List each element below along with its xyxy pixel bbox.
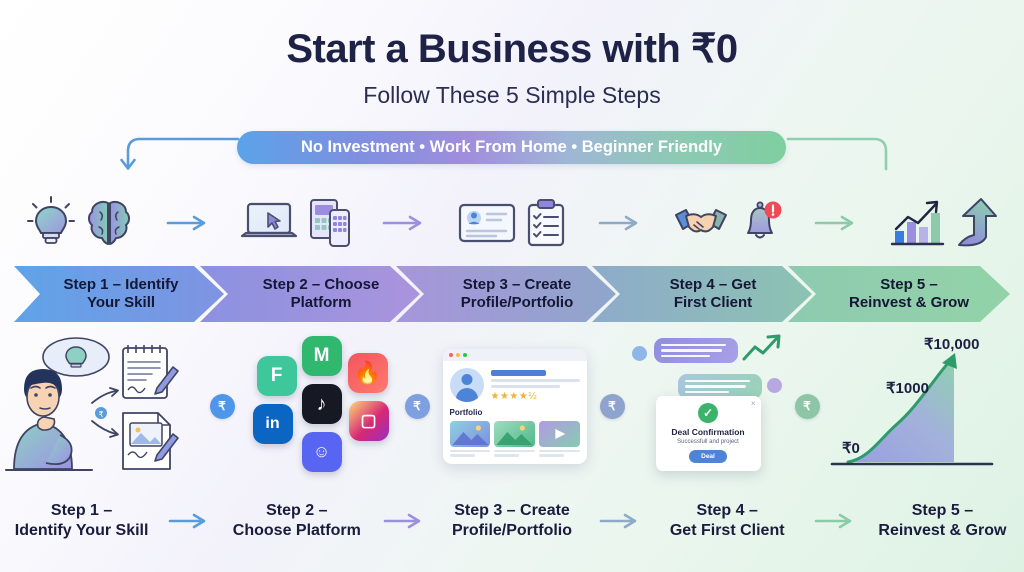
thumb-item[interactable] [539,421,580,457]
chev-1-line2: Your Skill [87,294,155,311]
feature-badge: No Investment • Work From Home • Beginne… [237,131,786,164]
chev-3-line1: Step 3 – Create [463,276,571,293]
maximize-dot [463,353,467,357]
icon-group-skill [0,195,160,251]
chart-label-mid: ₹1000 [886,380,929,397]
bl-4-line2: Get First Client [670,522,785,539]
trend-up-arrow-icon [742,334,784,364]
page-subtitle: Follow These 5 Simple Steps [0,82,1024,109]
rupee-separator-4: ₹ [790,394,824,419]
minimize-dot [456,353,460,357]
name-bar [491,370,546,376]
chev-2-line1: Step 2 – Choose [263,276,380,293]
chat-avatar-right [767,378,782,393]
thumb-caption [539,450,580,453]
illustration-panels: ₹ ₹ F M 🔥 in ♪ [0,330,1024,482]
icon-arrow-3 [592,213,648,233]
chevron-label-4: Step 4 – GetFirst Client [620,266,806,322]
arrow-right-icon [814,512,856,530]
thumb-item[interactable] [494,421,535,457]
panel-reinvest-grow: ₹0 ₹1000 ₹10,000 [824,330,1024,482]
growth-chart: ₹0 ₹1000 ₹10,000 [824,331,1024,481]
meta-line [491,385,560,388]
page-title: Start a Business with ₹0 [0,26,1024,72]
arrow-right-icon [599,512,641,530]
bl-3-line2: Profile/Portfolio [452,522,572,539]
svg-text:₹: ₹ [98,410,103,419]
tablet-phone-icon [308,197,352,249]
badge-row: No Investment • Work From Home • Beginne… [0,131,1024,171]
video-thumb-purple [539,421,580,447]
flame-icon[interactable]: 🔥 [348,353,388,393]
chevron-label-1: Step 1 – IdentifyYour Skill [28,266,214,322]
icon-arrow-1 [160,213,216,233]
bl-4-line1: Step 4 – [697,502,758,519]
bottom-label-2: Step 2 –Choose Platform [215,501,378,541]
bar-chart-trend-icon [889,198,945,248]
thumb-item[interactable] [450,421,491,457]
chev-4-line2: First Client [674,294,752,311]
arrow-right-icon [382,213,426,233]
app-icon-grid: F M 🔥 in ♪ ▢ ☺ [245,336,395,476]
icon-arrow-2 [376,213,432,233]
tiktok-icon[interactable]: ♪ [302,384,342,424]
deal-confirmation-illustration: × ✓ Deal Confirmation Successfull and pr… [630,334,790,479]
chevron-label-5: Step 5 –Reinvest & Grow [816,266,1002,322]
bl-1-line1: Step 1 – [51,502,112,519]
linkedin-icon[interactable]: in [253,404,293,444]
bl-2-line2: Choose Platform [233,522,361,539]
profile-body: ★★★★½ Portfolio [443,361,587,464]
portfolio-profile-card[interactable]: ★★★★½ Portfolio [443,349,587,464]
handshake-icon [673,203,729,243]
modal-subtitle: Successfull and project [662,439,755,445]
panel-create-profile: ★★★★½ Portfolio [434,330,595,482]
bl-2-line1: Step 2 – [266,502,327,519]
portfolio-section-title: Portfolio [450,408,580,417]
portfolio-thumbnails [450,421,580,457]
avatar [450,368,484,402]
rupee-separator-2: ₹ [400,394,434,419]
close-icon[interactable]: × [751,399,756,408]
icon-arrow-4 [808,213,864,233]
medium-icon[interactable]: M [302,336,342,376]
arrow-right-icon [383,512,425,530]
chev-1-line1: Step 1 – Identify [63,276,178,293]
panel-choose-platform: F M 🔥 in ♪ ▢ ☺ [239,330,400,482]
icon-row [0,186,1024,260]
bell-alert-icon [739,199,783,247]
bottom-arrow-3 [594,512,646,530]
panel-first-client: × ✓ Deal Confirmation Successfull and pr… [629,330,790,482]
arrow-right-icon [598,213,642,233]
bl-1-line2: Identify Your Skill [15,522,149,539]
brain-icon [85,198,133,248]
connector-left-arrow [110,131,240,176]
discord-icon[interactable]: ☺ [302,432,342,472]
thumb-caption [494,450,535,453]
bottom-arrow-4 [809,512,861,530]
icon-group-growth [864,197,1024,249]
arrow-right-icon [166,213,210,233]
checklist-clipboard-icon [526,199,566,247]
page-header: Start a Business with ₹0 Follow These 5 … [0,0,1024,109]
arrow-right-icon [814,213,858,233]
icon-group-platform [216,197,376,249]
icon-group-profile [432,199,592,247]
thumb-caption [450,450,491,453]
modal-title: Deal Confirmation [662,427,755,437]
image-thumb-green [494,421,535,447]
rupee-chip: ₹ [210,394,235,419]
deal-confirmation-modal[interactable]: × ✓ Deal Confirmation Successfull and pr… [656,396,761,471]
bottom-arrow-1 [163,512,215,530]
bottom-label-1: Step 1 –Identify Your Skill [0,501,163,541]
rating-stars: ★★★★½ [491,391,580,402]
bottom-label-row: Step 1 –Identify Your Skill Step 2 –Choo… [0,492,1024,550]
instagram-icon[interactable]: ▢ [349,401,389,441]
bl-5-line1: Step 5 – [912,502,973,519]
chev-5-line1: Step 5 – [880,276,938,293]
chev-3-line2: Profile/Portfolio [461,294,574,311]
bottom-label-3: Step 3 – CreateProfile/Portfolio [430,501,593,541]
step-chevron-band: Step 1 – IdentifyYour Skill Step 2 – Cho… [14,266,1010,322]
id-card-icon [458,201,516,245]
bottom-label-5: Step 5 –Reinvest & Grow [861,501,1024,541]
chart-label-goal: ₹10,000 [924,336,979,353]
chart-label-start: ₹0 [842,440,860,457]
meta-line [491,379,580,382]
profile-meta: ★★★★½ [491,368,580,402]
image-thumb-blue [450,421,491,447]
close-dot [449,353,453,357]
rupee-separator-3: ₹ [595,394,629,419]
curved-up-arrow-icon [955,197,999,249]
fiverr-icon[interactable]: F [257,356,297,396]
connector-right-line [766,131,896,176]
thumb-caption [494,454,519,457]
bl-3-line1: Step 3 – Create [454,502,570,519]
thumb-caption [539,454,564,457]
arrow-right-icon [168,512,210,530]
chat-avatar-left [632,346,647,361]
rupee-separator-1: ₹ [205,394,239,419]
laptop-cursor-icon [240,198,298,248]
lightbulb-icon [27,195,75,251]
play-icon [539,421,580,447]
success-check-icon: ✓ [698,403,718,423]
chat-bubble-left [654,338,738,364]
bl-5-line2: Reinvest & Grow [878,522,1006,539]
deal-button[interactable]: Deal [689,450,727,463]
thinking-person-illustration: ₹ [0,331,205,481]
chevron-label-3: Step 3 – CreateProfile/Portfolio [424,266,610,322]
rupee-chip: ₹ [405,394,430,419]
image-glyph [450,421,491,447]
bottom-label-4: Step 4 –Get First Client [646,501,809,541]
bottom-arrow-2 [378,512,430,530]
chev-2-line2: Platform [291,294,352,311]
profile-header: ★★★★½ [450,368,580,402]
image-glyph [494,421,535,447]
chevron-label-2: Step 2 – ChoosePlatform [228,266,414,322]
rupee-chip: ₹ [795,394,820,419]
chev-5-line2: Reinvest & Grow [849,294,969,311]
chev-4-line1: Step 4 – Get [670,276,757,293]
icon-group-client [648,199,808,247]
rupee-chip: ₹ [600,394,625,419]
thumb-caption [450,454,475,457]
window-titlebar [443,349,587,361]
panel-identify-skill: ₹ [0,330,205,482]
